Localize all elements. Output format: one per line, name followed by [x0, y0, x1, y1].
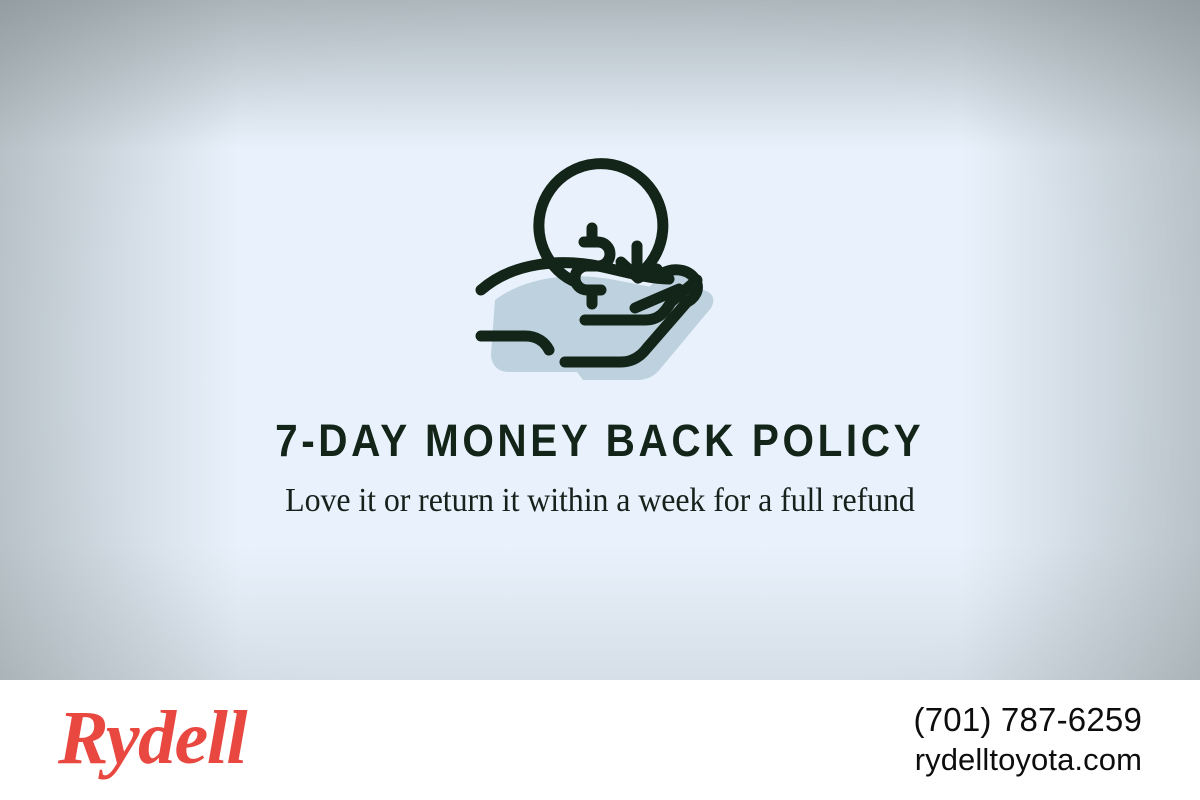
footer-bar: Rydell (701) 787-6259 rydelltoyota.com	[0, 680, 1200, 800]
rydell-logo[interactable]: Rydell	[58, 698, 246, 778]
website-url[interactable]: rydelltoyota.com	[914, 740, 1142, 780]
contact-block: (701) 787-6259 rydelltoyota.com	[914, 700, 1142, 780]
hero-content: 7-DAY MONEY BACK POLICY Love it or retur…	[0, 0, 1200, 680]
money-in-hand-icon	[465, 150, 735, 395]
page-subtitle: Love it or return it within a week for a…	[271, 479, 929, 523]
page-title: 7-DAY MONEY BACK POLICY	[275, 417, 924, 465]
promo-card: 7-DAY MONEY BACK POLICY Love it or retur…	[0, 0, 1200, 800]
phone-number[interactable]: (701) 787-6259	[914, 700, 1142, 740]
